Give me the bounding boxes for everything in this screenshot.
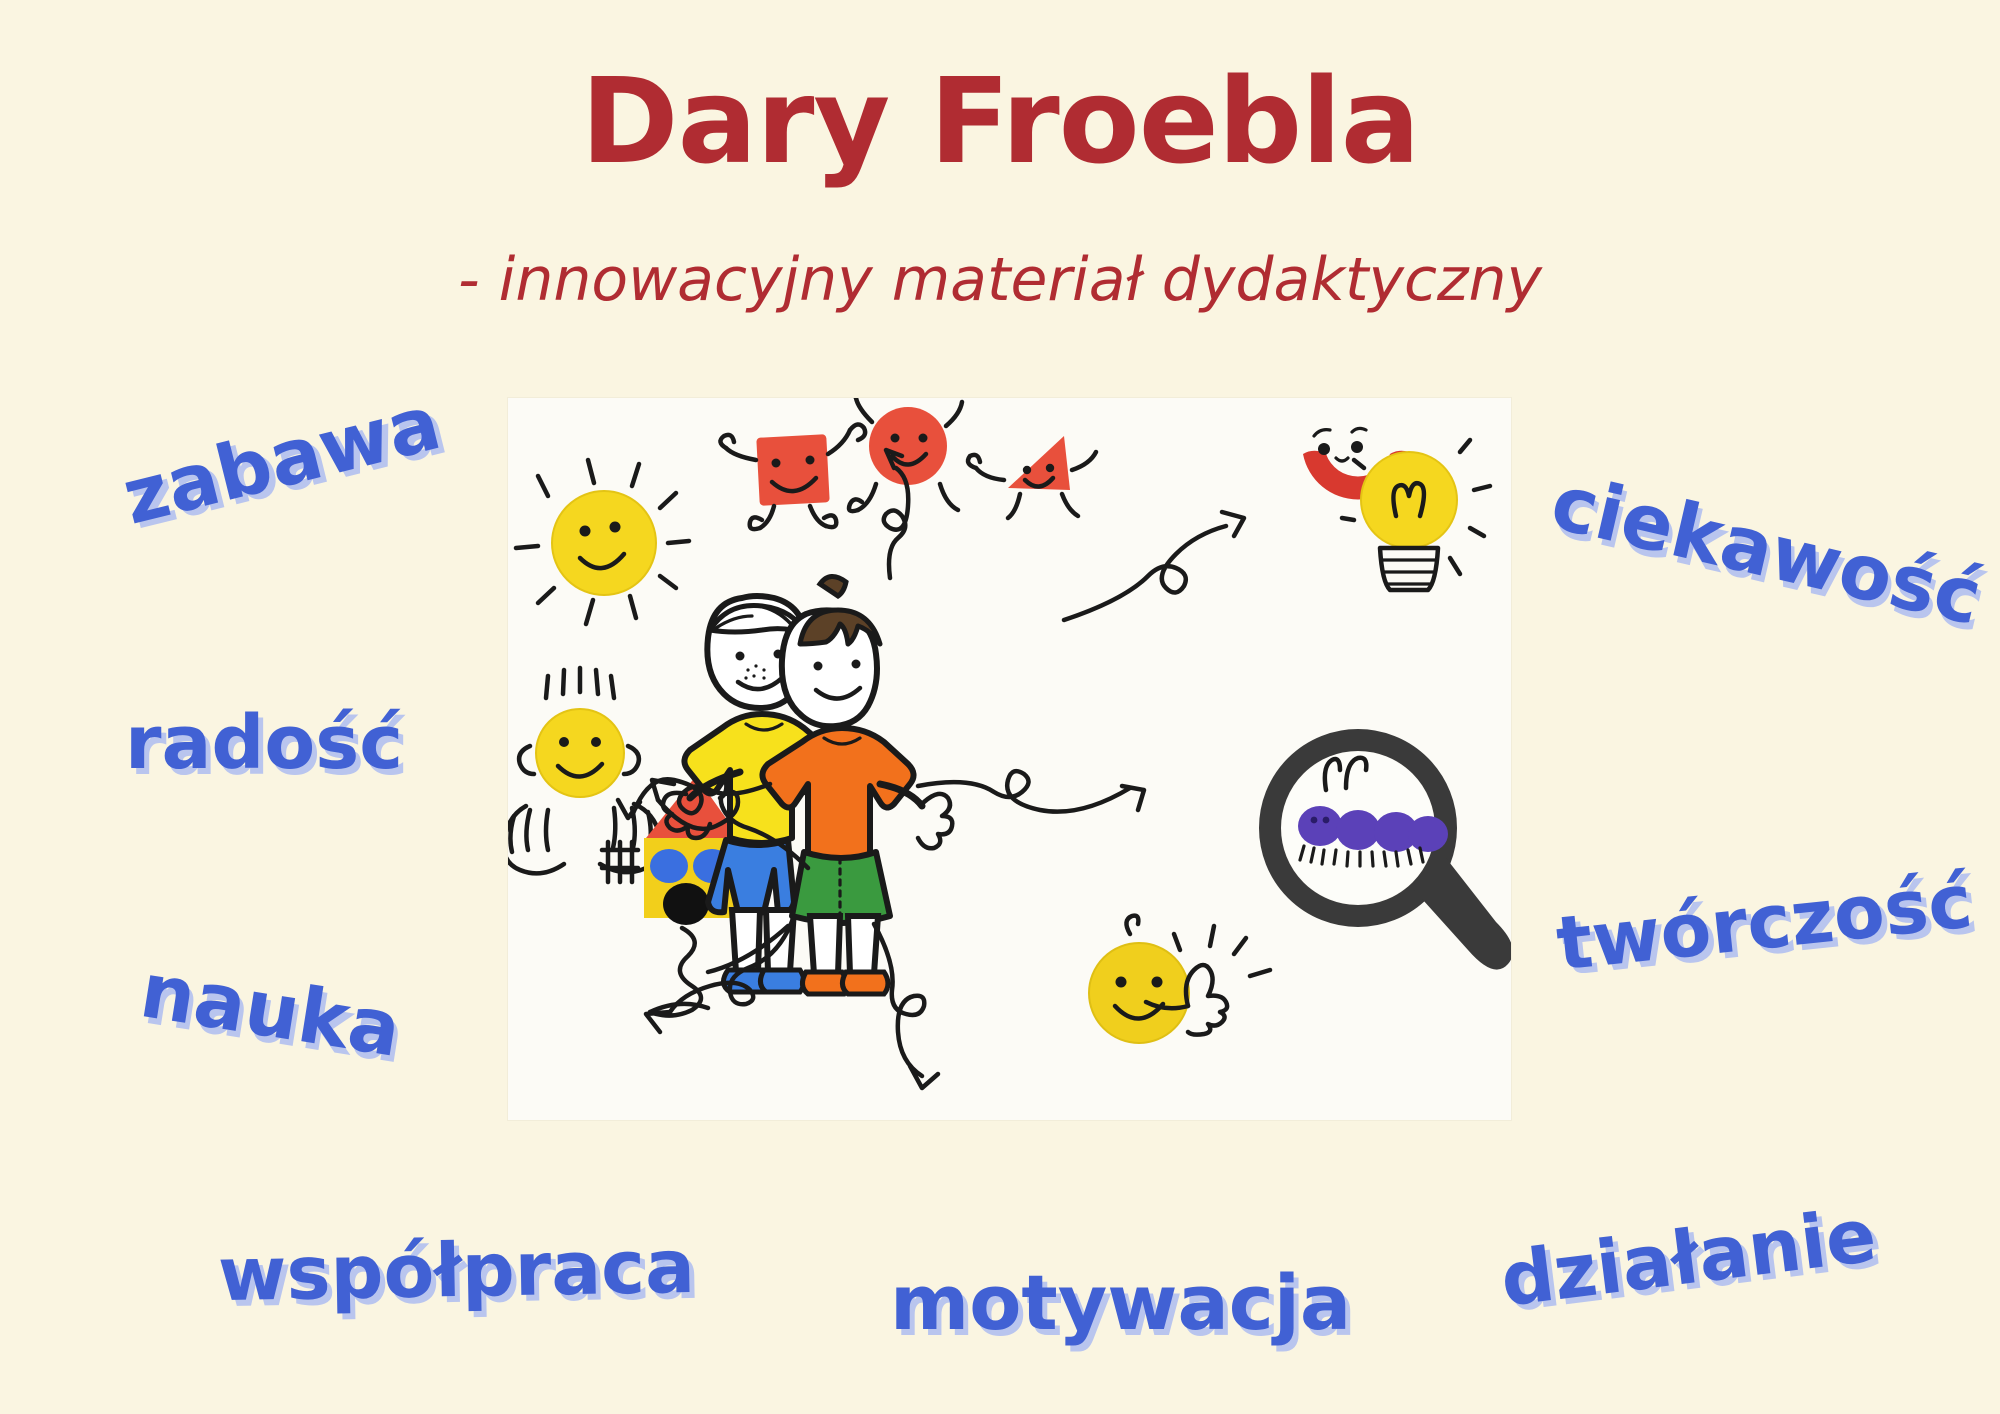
page-subtitle: - innowacyjny materiał dydaktyczny: [0, 245, 2000, 315]
illustration-photo: .ink{fill:none;stroke:#1a1a1a;stroke-lin…: [508, 398, 1511, 1120]
keyword-ciekawosc: ciekawość: [1544, 457, 1990, 642]
keyword-tworczosc: twórczość: [1553, 858, 1976, 987]
poster-root: Dary Froebla - innowacyjny materiał dyda…: [0, 0, 2000, 1414]
keyword-wspolpraca: współpraca: [217, 1224, 695, 1318]
keyword-radosc: radość: [125, 700, 403, 786]
keyword-nauka: nauka: [135, 945, 407, 1074]
keyword-motywacja: motywacja: [890, 1258, 1351, 1347]
page-title: Dary Froebla: [0, 60, 2000, 184]
keyword-dzialanie: działanie: [1496, 1192, 1881, 1323]
keyword-zabawa: zabawa: [114, 377, 449, 541]
